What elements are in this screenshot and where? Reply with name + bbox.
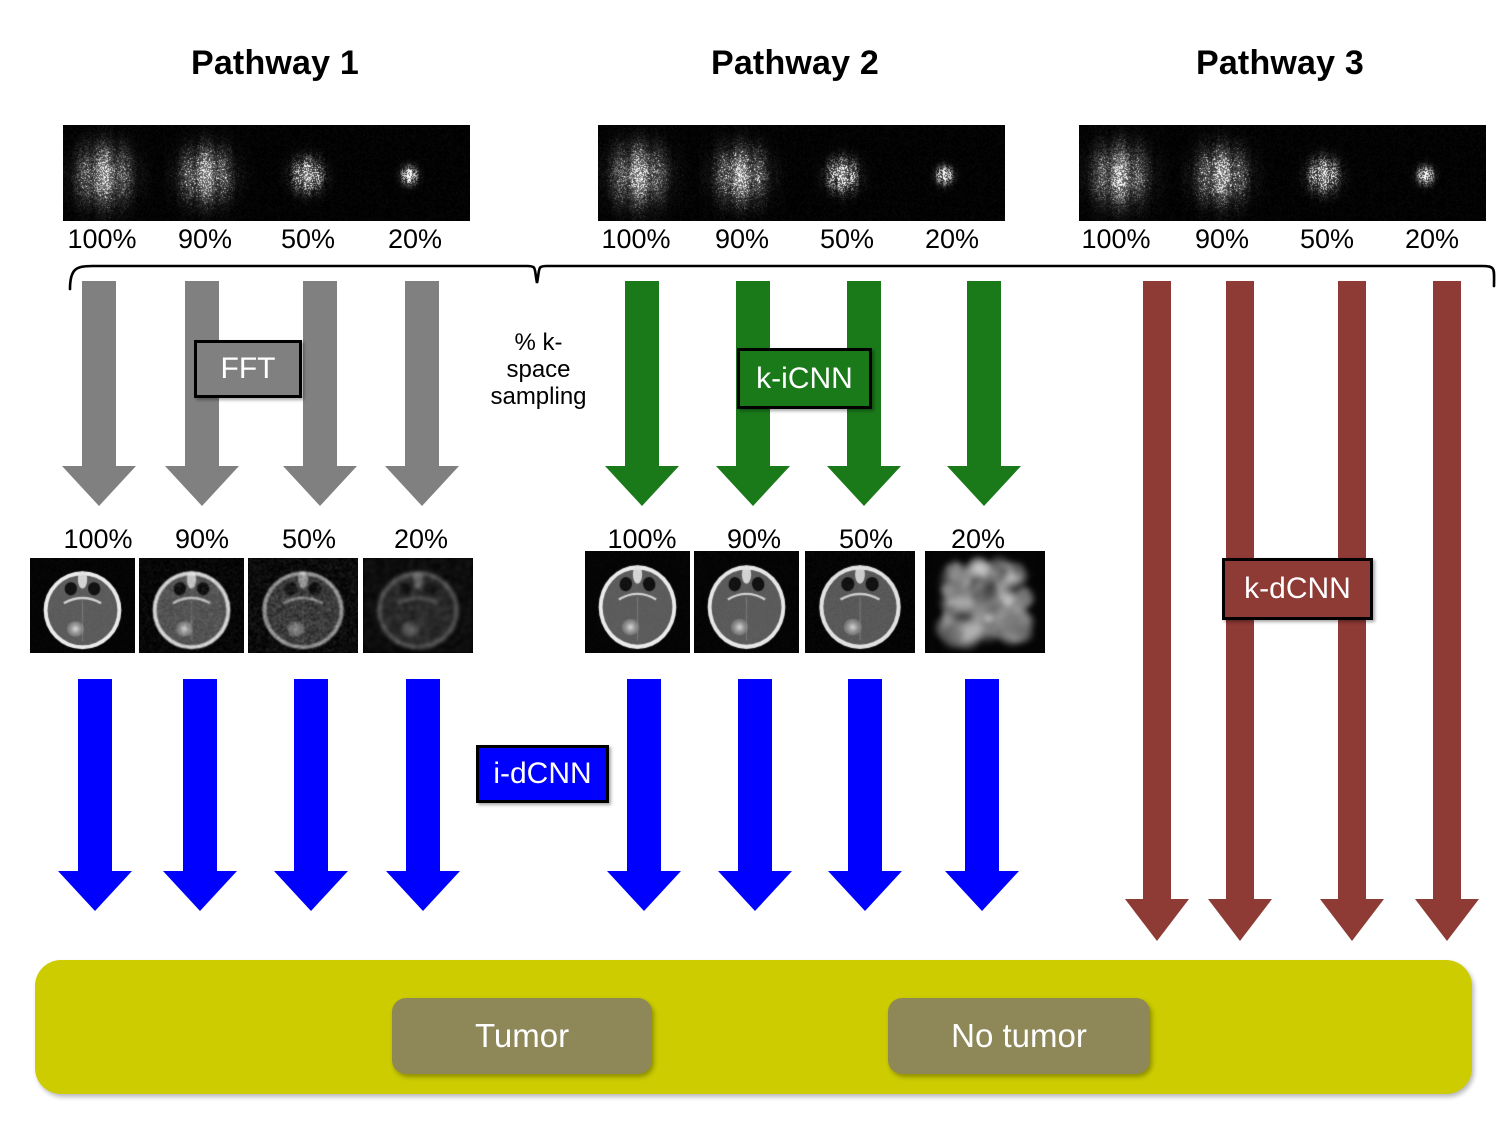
mri-image-p1-100 — [30, 558, 135, 653]
kspace-sampling-line-2: space — [486, 357, 591, 384]
idcnn-arrow-6 — [718, 679, 792, 911]
kdcnn-arrow-4 — [1415, 281, 1479, 941]
classification-output-bar — [35, 960, 1472, 1094]
mri-label-p2-1: 90% — [704, 526, 804, 553]
k-dcnn-label-box[interactable]: k-dCNN — [1222, 558, 1373, 620]
tumor-button-label: Tumor — [475, 1017, 569, 1055]
mri-image-p1-50 — [248, 558, 358, 653]
no-tumor-button[interactable]: No tumor — [888, 998, 1150, 1074]
idcnn-arrow-3 — [274, 679, 348, 911]
fft-label: FFT — [221, 352, 276, 386]
kspace-sampling-label: % k- space sampling — [486, 330, 591, 411]
kicnn-arrow-4 — [947, 281, 1021, 506]
idcnn-arrow-4 — [386, 679, 460, 911]
kdcnn-arrow-1 — [1125, 281, 1189, 941]
kicnn-arrow-1 — [605, 281, 679, 506]
idcnn-arrow-7 — [828, 679, 902, 911]
figure-canvas: Pathway 1 Pathway 2 Pathway 3 100% 90% 5… — [0, 0, 1500, 1125]
mri-label-p1-3: 20% — [371, 526, 471, 553]
kspace-sampling-line-1: % k- — [486, 330, 591, 357]
mri-label-p1-1: 90% — [152, 526, 252, 553]
mri-image-p1-20 — [363, 558, 473, 653]
mri-label-p1-2: 50% — [259, 526, 359, 553]
idcnn-arrow-1 — [58, 679, 132, 911]
mri-label-p1-0: 100% — [48, 526, 148, 553]
mri-label-p2-2: 50% — [816, 526, 916, 553]
idcnn-arrow-8 — [945, 679, 1019, 911]
k-icnn-label: k-iCNN — [756, 362, 853, 396]
kspace-sampling-line-3: sampling — [486, 384, 591, 411]
tumor-button[interactable]: Tumor — [392, 998, 652, 1074]
mri-label-p2-0: 100% — [592, 526, 692, 553]
mri-image-p2-50 — [805, 551, 915, 653]
i-dcnn-label-box[interactable]: i-dCNN — [476, 745, 609, 803]
k-dcnn-label: k-dCNN — [1244, 572, 1351, 606]
mri-image-p1-90 — [139, 558, 244, 653]
fft-arrow-1 — [62, 281, 136, 506]
fft-label-box[interactable]: FFT — [194, 340, 302, 398]
mri-label-p2-3: 20% — [928, 526, 1028, 553]
mri-image-p2-20 — [925, 551, 1045, 653]
no-tumor-button-label: No tumor — [951, 1017, 1087, 1055]
fft-arrow-4 — [385, 281, 459, 506]
idcnn-arrow-5 — [607, 679, 681, 911]
mri-image-p2-90 — [694, 551, 799, 653]
idcnn-arrow-2 — [163, 679, 237, 911]
mri-image-p2-100 — [585, 551, 690, 653]
i-dcnn-label: i-dCNN — [493, 757, 591, 791]
k-icnn-label-box[interactable]: k-iCNN — [737, 348, 872, 409]
